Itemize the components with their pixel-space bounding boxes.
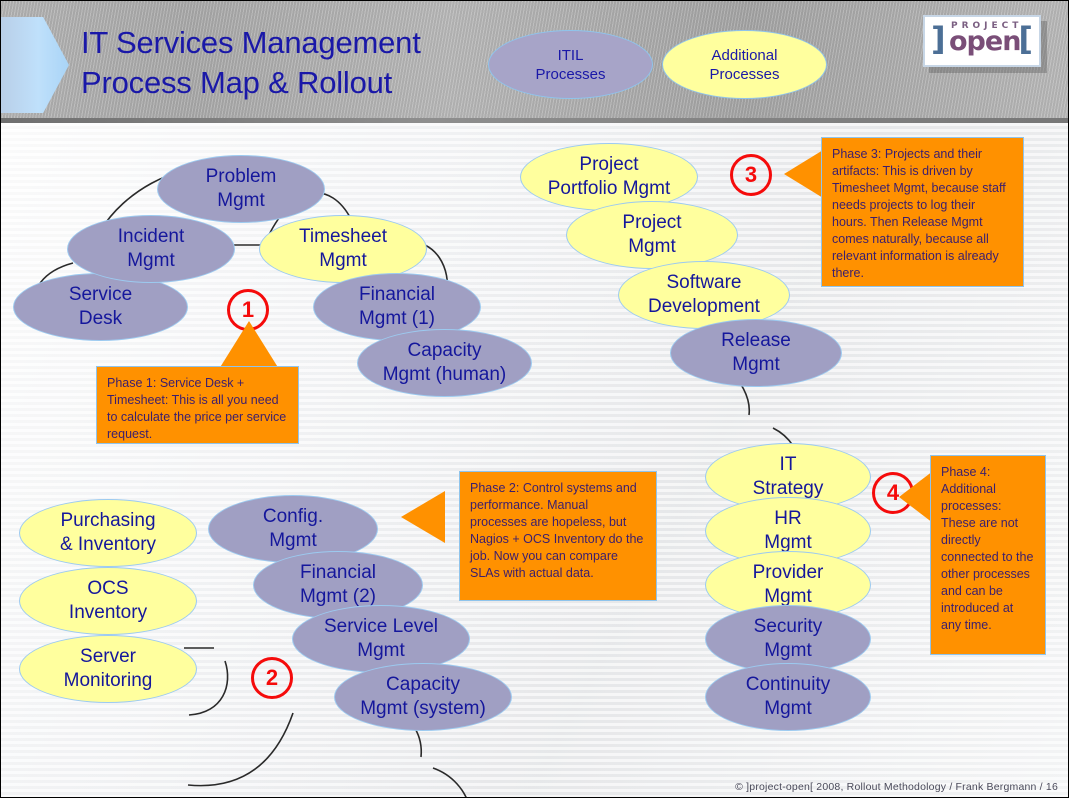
node-release-mgmt[interactable]: Release Mgmt [670,319,842,387]
node-label: Continuity Mgmt [746,673,831,721]
node-label: Incident Mgmt [118,225,185,273]
callout-tail-phase1 [219,321,279,369]
node-project-mgmt[interactable]: Project Mgmt [566,201,738,269]
node-label: Service Level Mgmt [324,615,438,663]
node-server-monitoring[interactable]: Server Monitoring [19,635,197,703]
phase-marker-label: 4 [887,480,899,506]
header-arrow-decoration [1,17,69,113]
node-problem-mgmt[interactable]: Problem Mgmt [157,155,325,223]
node-label: Capacity Mgmt (human) [383,339,507,387]
node-label: Project Portfolio Mgmt [548,153,670,201]
slide-header: IT Services Management Process Map & Rol… [1,1,1069,123]
phase-marker-label: 1 [242,297,254,323]
callout-phase3: Phase 3: Projects and their artifacts: T… [821,137,1024,287]
node-label: Capacity Mgmt (system) [360,673,486,721]
node-purchasing-inventory[interactable]: Purchasing & Inventory [19,499,197,567]
callout-tail-phase2 [401,491,445,543]
node-label: Provider Mgmt [753,561,824,609]
page-title: IT Services Management Process Map & Rol… [81,23,501,103]
node-capacity-mgmt-human[interactable]: Capacity Mgmt (human) [357,329,532,397]
node-label: Financial Mgmt (1) [359,283,435,331]
slide-canvas: IT Services Management Process Map & Rol… [0,0,1069,798]
node-label: Server Monitoring [64,645,153,693]
node-label: Purchasing & Inventory [60,509,156,557]
project-open-logo: ] PROJECT open [ [923,15,1041,67]
logo-open-text: open [949,28,1020,55]
node-service-desk[interactable]: Service Desk [13,273,188,341]
legend-itil-label: ITIL Processes [535,46,605,84]
phase-marker-label: 2 [266,665,278,691]
node-label: Timesheet Mgmt [299,225,387,273]
callout-phase1: Phase 1: Service Desk + Timesheet: This … [96,366,299,444]
logo-bracket-right-icon: [ [1018,23,1033,55]
legend-additional-label: Additional Processes [709,46,779,84]
callout-text: Phase 4: Additional processes: These are… [941,465,1033,632]
node-label: HR Mgmt [764,507,812,555]
node-label: Config. Mgmt [263,505,323,553]
node-label: Project Mgmt [622,211,681,259]
node-label: Security Mgmt [754,615,823,663]
phase-marker-2: 2 [251,657,293,699]
phase-marker-3: 3 [730,154,772,196]
callout-phase4: Phase 4: Additional processes: These are… [930,455,1046,655]
node-label: OCS Inventory [69,577,147,625]
legend-additional-processes: Additional Processes [662,30,827,99]
callout-text: Phase 2: Control systems and performance… [470,481,643,580]
callout-text: Phase 1: Service Desk + Timesheet: This … [107,376,286,441]
node-label: Software Development [648,271,760,319]
node-project-portfolio-mgmt[interactable]: Project Portfolio Mgmt [520,143,698,211]
node-label: Problem Mgmt [206,165,277,213]
node-label: IT Strategy [753,453,824,501]
node-continuity-mgmt[interactable]: Continuity Mgmt [705,663,871,731]
node-label: Release Mgmt [721,329,791,377]
callout-text: Phase 3: Projects and their artifacts: T… [832,147,1006,280]
node-service-level-mgmt[interactable]: Service Level Mgmt [292,605,470,673]
node-incident-mgmt[interactable]: Incident Mgmt [67,215,235,283]
node-capacity-mgmt-system[interactable]: Capacity Mgmt (system) [334,663,512,731]
node-label: Financial Mgmt (2) [300,561,376,609]
callout-phase2: Phase 2: Control systems and performance… [459,471,657,601]
slide-footer: © ]project-open[ 2008, Rollout Methodolo… [735,781,1058,793]
node-label: Service Desk [69,283,132,331]
slide-body: Service Desk Incident Mgmt Problem Mgmt … [1,123,1069,798]
legend-itil-processes: ITIL Processes [488,30,653,99]
node-ocs-inventory[interactable]: OCS Inventory [19,567,197,635]
phase-marker-label: 3 [745,162,757,188]
logo-bracket-left-icon: ] [931,23,946,55]
